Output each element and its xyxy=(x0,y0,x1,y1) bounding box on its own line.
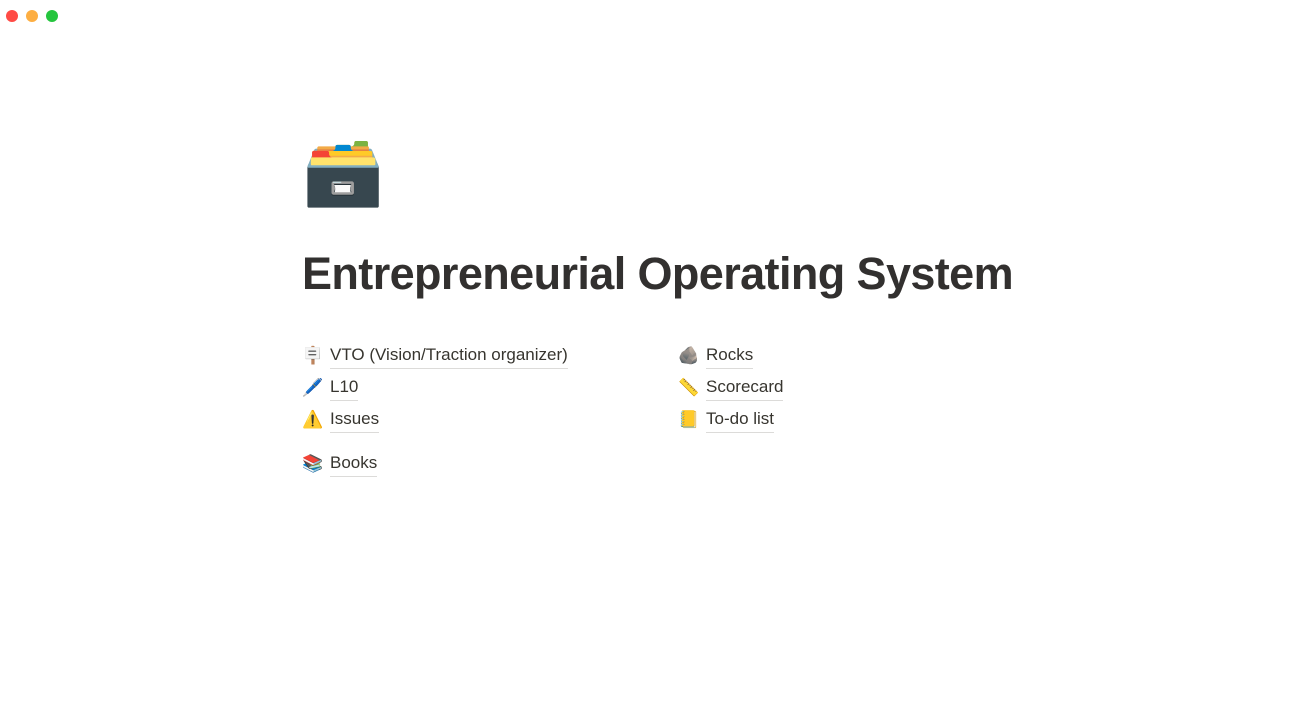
warning-icon: ⚠️ xyxy=(302,409,324,431)
link-l10[interactable]: L10 xyxy=(330,375,358,401)
link-row-rocks[interactable]: 🪨 Rocks xyxy=(678,340,998,372)
link-column-left: 🪧 VTO (Vision/Traction organizer) 🖊️ L10… xyxy=(302,340,662,480)
rock-icon: 🪨 xyxy=(678,345,700,367)
link-row-vto[interactable]: 🪧 VTO (Vision/Traction organizer) xyxy=(302,340,662,372)
link-books[interactable]: Books xyxy=(330,451,377,477)
link-row-todo-list[interactable]: 📒 To-do list xyxy=(678,404,998,436)
link-rocks[interactable]: Rocks xyxy=(706,343,753,369)
link-todo-list[interactable]: To-do list xyxy=(706,407,774,433)
link-vto[interactable]: VTO (Vision/Traction organizer) xyxy=(330,343,568,369)
pen-icon: 🖊️ xyxy=(302,377,324,399)
books-icon: 📚 xyxy=(302,453,324,475)
link-row-l10[interactable]: 🖊️ L10 xyxy=(302,372,662,404)
card-file-box-icon[interactable]: 🗃️ xyxy=(302,136,382,206)
link-row-scorecard[interactable]: 📏 Scorecard xyxy=(678,372,998,404)
link-row-issues[interactable]: ⚠️ Issues xyxy=(302,404,662,436)
signpost-icon: 🪧 xyxy=(302,345,324,367)
notebook-icon: 📒 xyxy=(678,409,700,431)
column-spacer xyxy=(302,436,662,448)
page-title: Entrepreneurial Operating System xyxy=(302,246,1013,302)
page-content: 🗃️ Entrepreneurial Operating System 🪧 VT… xyxy=(0,0,1313,710)
link-column-right: 🪨 Rocks 📏 Scorecard 📒 To-do list xyxy=(678,340,998,436)
ruler-icon: 📏 xyxy=(678,377,700,399)
link-scorecard[interactable]: Scorecard xyxy=(706,375,783,401)
link-issues[interactable]: Issues xyxy=(330,407,379,433)
link-row-books[interactable]: 📚 Books xyxy=(302,448,662,480)
